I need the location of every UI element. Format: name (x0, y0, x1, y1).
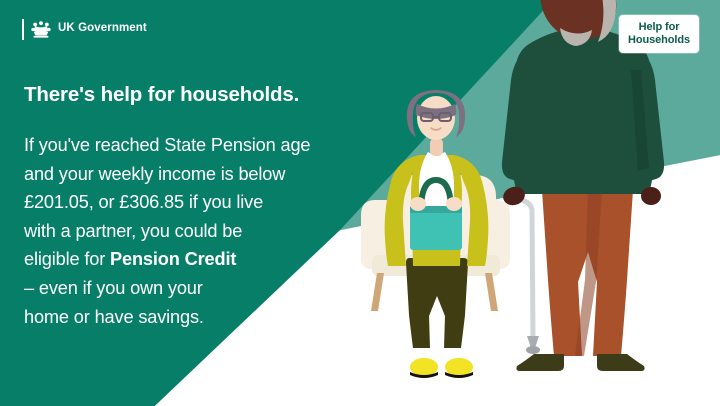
body-line-1: If you've reached State Pension age (24, 131, 384, 160)
badge-line-2: Households (628, 34, 690, 47)
body-line-5: eligible for Pension Credit (24, 245, 384, 274)
royal-crown-icon (31, 21, 51, 38)
body-line-2: and your weekly income is below (24, 160, 384, 189)
pension-credit-emphasis: Pension Credit (110, 249, 236, 269)
headline: There's help for households. (24, 83, 299, 107)
body-copy: If you've reached State Pension age and … (24, 131, 384, 331)
uk-government-label: UK Government (58, 23, 147, 35)
body-line-3: £201.05, or £306.85 if you live (24, 188, 384, 217)
body-line-6: – even if you own your (24, 274, 384, 303)
logo-divider-rule (22, 19, 24, 40)
uk-government-logo: UK Government (22, 18, 147, 40)
body-line-5-prefix: eligible for (24, 249, 110, 269)
body-line-7: home or have savings. (24, 303, 384, 332)
badge-line-1: Help for (628, 21, 690, 34)
help-for-households-poster: UK Government Help for Households There'… (0, 0, 720, 406)
body-line-4: with a partner, you could be (24, 217, 384, 246)
help-for-households-badge[interactable]: Help for Households (619, 15, 699, 53)
